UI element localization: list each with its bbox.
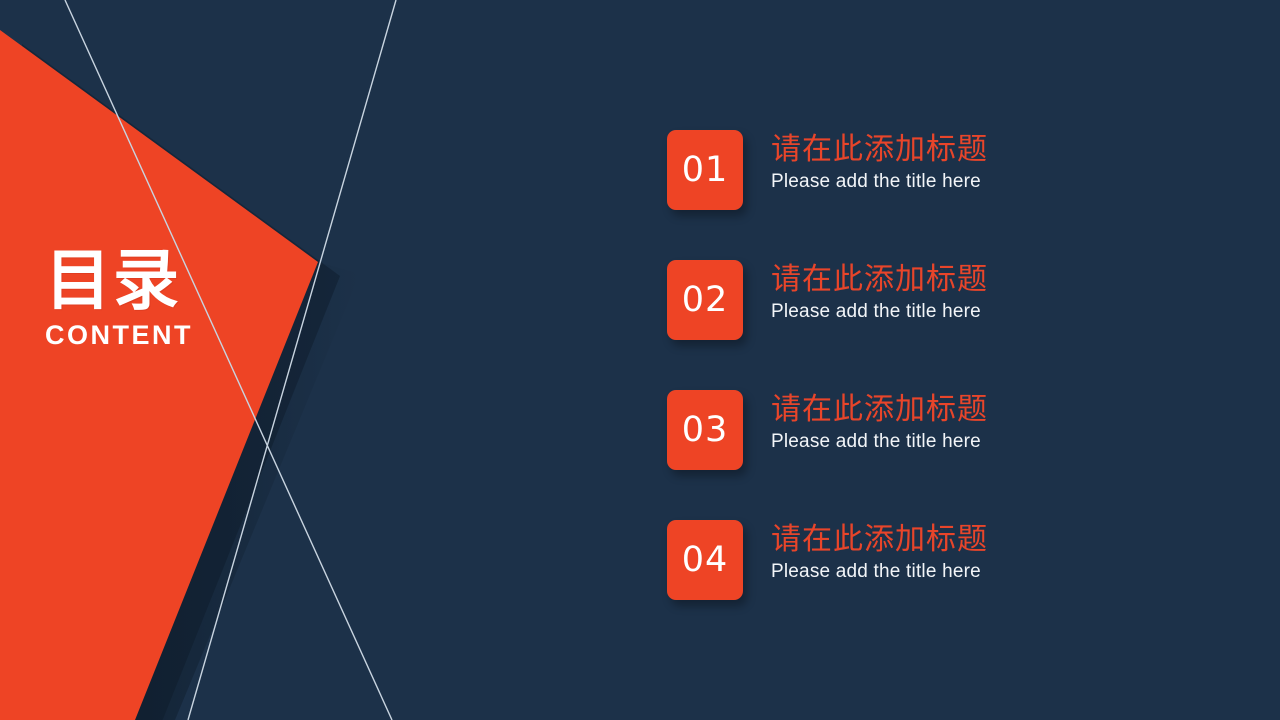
agenda-item-title-cn: 请在此添加标题 (771, 262, 988, 297)
number-badge-label: 02 (682, 283, 729, 318)
slide-canvas: 目录 CONTENT 01 请在此添加标题 Please add the tit… (0, 0, 1280, 720)
agenda-item-text-02: 请在此添加标题 Please add the title here (771, 260, 988, 324)
number-badge-03[interactable]: 03 (667, 390, 743, 470)
agenda-item-title-en: Please add the title here (771, 431, 988, 454)
number-badge-label: 03 (682, 413, 729, 448)
number-badge-04[interactable]: 04 (667, 520, 743, 600)
agenda-item-title-cn: 请在此添加标题 (771, 392, 988, 427)
number-badge-02[interactable]: 02 (667, 260, 743, 340)
agenda-item-title-en: Please add the title here (771, 171, 988, 194)
agenda-item-text-04: 请在此添加标题 Please add the title here (771, 520, 988, 584)
agenda-list: 01 请在此添加标题 Please add the title here 02 … (667, 130, 1227, 600)
agenda-item-02[interactable]: 02 请在此添加标题 Please add the title here (667, 260, 1227, 340)
number-badge-label: 01 (682, 153, 729, 188)
agenda-item-title-cn: 请在此添加标题 (771, 522, 988, 557)
agenda-item-01[interactable]: 01 请在此添加标题 Please add the title here (667, 130, 1227, 210)
agenda-item-text-03: 请在此添加标题 Please add the title here (771, 390, 988, 454)
agenda-item-04[interactable]: 04 请在此添加标题 Please add the title here (667, 520, 1227, 600)
agenda-item-title-en: Please add the title here (771, 561, 988, 584)
agenda-item-text-01: 请在此添加标题 Please add the title here (771, 130, 988, 194)
agenda-item-title-cn: 请在此添加标题 (771, 132, 988, 167)
number-badge-label: 04 (682, 543, 729, 578)
number-badge-01[interactable]: 01 (667, 130, 743, 210)
agenda-item-title-en: Please add the title here (771, 301, 988, 324)
agenda-item-03[interactable]: 03 请在此添加标题 Please add the title here (667, 390, 1227, 470)
